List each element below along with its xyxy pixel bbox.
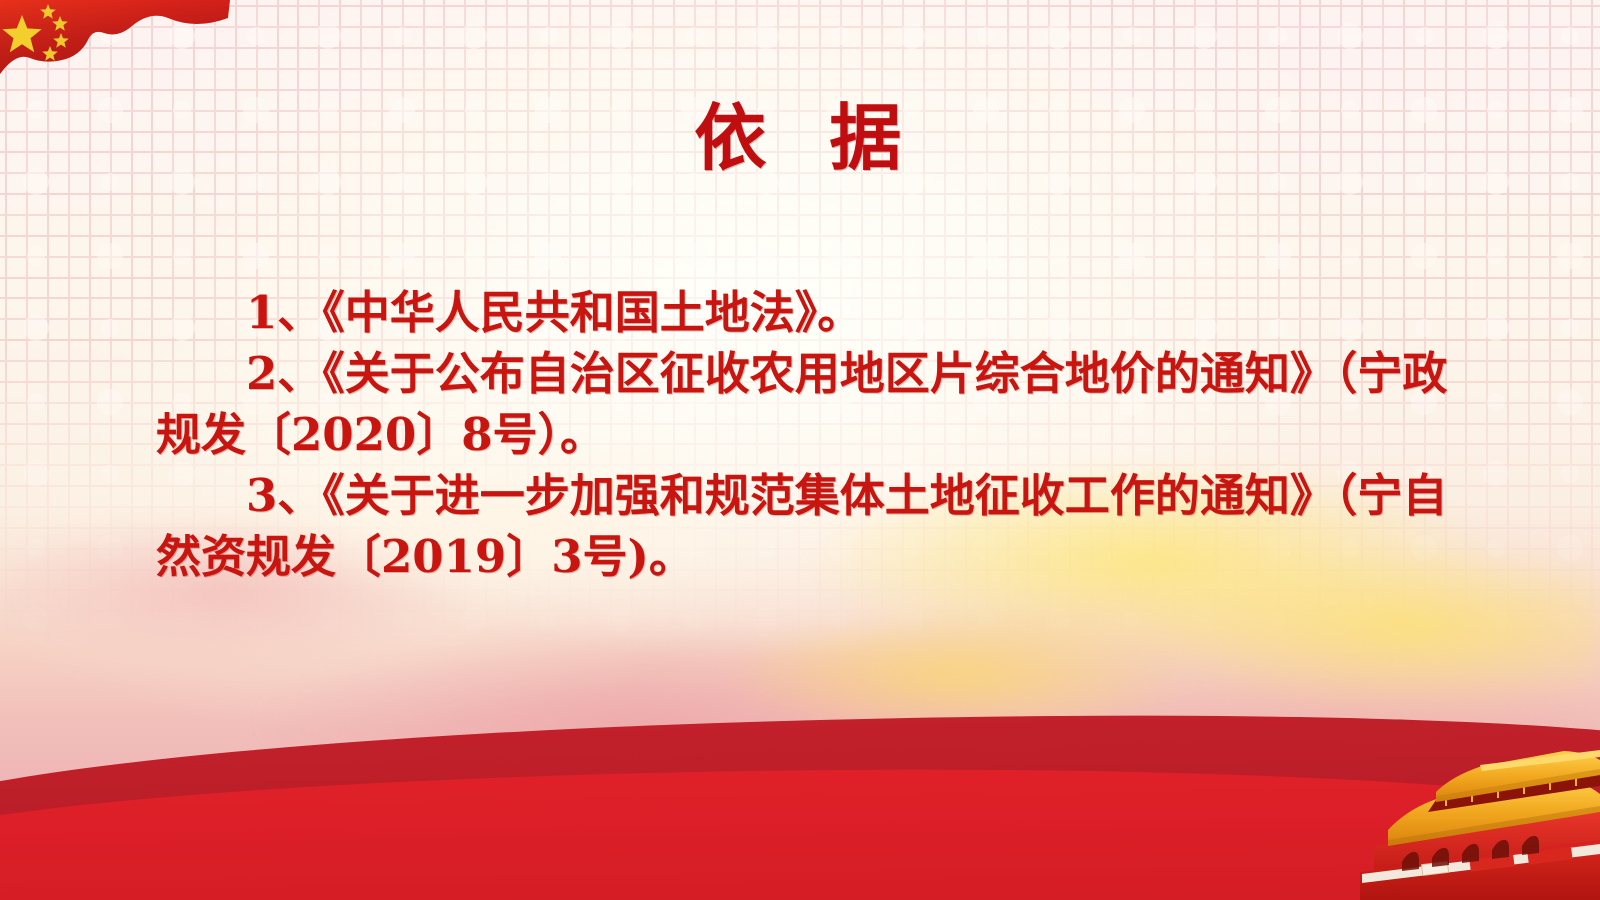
slide-canvas: 依 据 1、《中华人民共和国土地法》。 2、《关于公布自治区征收农用地区片综合地… [0,0,1600,900]
content-line-1: 1、《中华人民共和国土地法》。 [156,282,1448,343]
content-line-3: 3、《关于进一步加强和规范集体土地征收工作的通知》（宁自然资规发〔2019〕3号… [156,465,1448,587]
content-line-2: 2、《关于公布自治区征收农用地区片综合地价的通知》（宁政规发〔2020〕8号）。 [156,343,1448,465]
content-body: 1、《中华人民共和国土地法》。 2、《关于公布自治区征收农用地区片综合地价的通知… [156,282,1448,587]
page-title: 依 据 [0,96,1600,180]
